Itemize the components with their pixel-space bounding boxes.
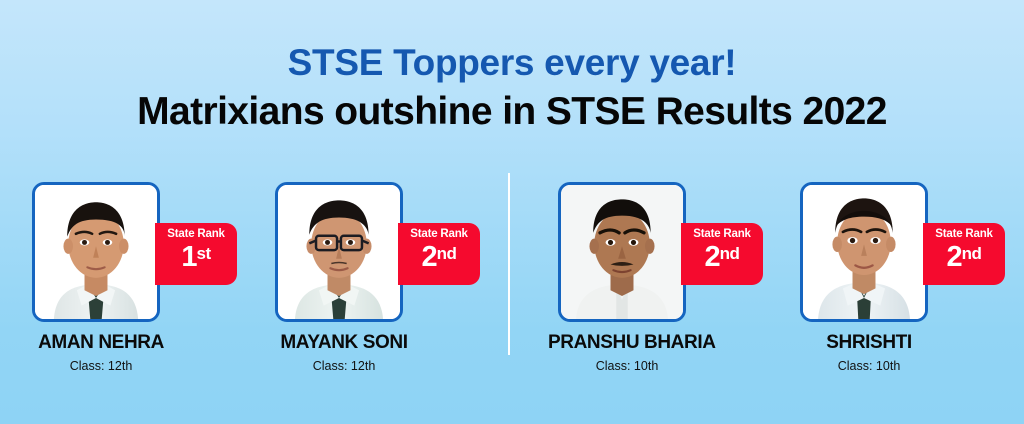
- rank-number: 1: [181, 241, 196, 273]
- photo-and-badge: State Rank 2nd: [548, 180, 778, 332]
- rank-suffix: nd: [720, 244, 740, 263]
- photo-and-badge: State Rank 2nd: [265, 180, 495, 332]
- student-portrait-icon: [278, 185, 400, 319]
- state-rank-badge: State Rank 1st: [155, 223, 237, 285]
- rank-value: 2nd: [681, 242, 763, 272]
- rank-value: 2nd: [923, 242, 1005, 272]
- student-portrait-icon: [35, 185, 157, 319]
- state-rank-badge: State Rank 2nd: [681, 223, 763, 285]
- stse-toppers-banner: STSE Toppers every year! Matrixians outs…: [0, 0, 1024, 424]
- rank-number: 2: [705, 241, 720, 273]
- rank-number: 2: [422, 241, 437, 273]
- rank-suffix: st: [197, 244, 211, 263]
- rank-label: State Rank: [398, 229, 480, 241]
- student-class: Class: 12th: [265, 360, 423, 374]
- rank-label: State Rank: [155, 229, 237, 241]
- headline-secondary: Matrixians outshine in STSE Results 2022: [0, 92, 1024, 133]
- headline-primary: STSE Toppers every year!: [0, 44, 1024, 83]
- topper-card: State Rank 2nd MAYANK SONI Class: 12th: [265, 180, 495, 374]
- toppers-card-row: State Rank 1st AMAN NEHRA Class: 12th: [0, 180, 1024, 390]
- student-photo-frame: [800, 182, 928, 322]
- student-portrait-icon: [561, 185, 683, 319]
- photo-and-badge: State Rank 1st: [22, 180, 252, 332]
- student-class: Class: 12th: [22, 360, 180, 374]
- student-class: Class: 10th: [790, 360, 948, 374]
- student-name: PRANSHU BHARIA: [548, 333, 706, 354]
- state-rank-badge: State Rank 2nd: [398, 223, 480, 285]
- banner-heading-block: STSE Toppers every year! Matrixians outs…: [0, 44, 1024, 133]
- student-name: MAYANK SONI: [265, 333, 423, 354]
- rank-suffix: nd: [962, 244, 982, 263]
- student-photo-frame: [32, 182, 160, 322]
- student-name: AMAN NEHRA: [22, 333, 180, 354]
- topper-card: State Rank 2nd PRANSHU BHARIA Class: 10t…: [548, 180, 778, 374]
- student-photo-frame: [558, 182, 686, 322]
- student-class: Class: 10th: [548, 360, 706, 374]
- topper-card: State Rank 1st AMAN NEHRA Class: 12th: [22, 180, 252, 374]
- rank-suffix: nd: [437, 244, 457, 263]
- student-photo-frame: [275, 182, 403, 322]
- topper-card: State Rank 2nd SHRISHTI Class: 10th: [790, 180, 1020, 374]
- rank-number: 2: [947, 241, 962, 273]
- photo-and-badge: State Rank 2nd: [790, 180, 1020, 332]
- student-name: SHRISHTI: [790, 333, 948, 354]
- rank-value: 1st: [155, 242, 237, 272]
- rank-value: 2nd: [398, 242, 480, 272]
- state-rank-badge: State Rank 2nd: [923, 223, 1005, 285]
- rank-label: State Rank: [681, 229, 763, 241]
- rank-label: State Rank: [923, 229, 1005, 241]
- student-portrait-icon: [803, 185, 925, 319]
